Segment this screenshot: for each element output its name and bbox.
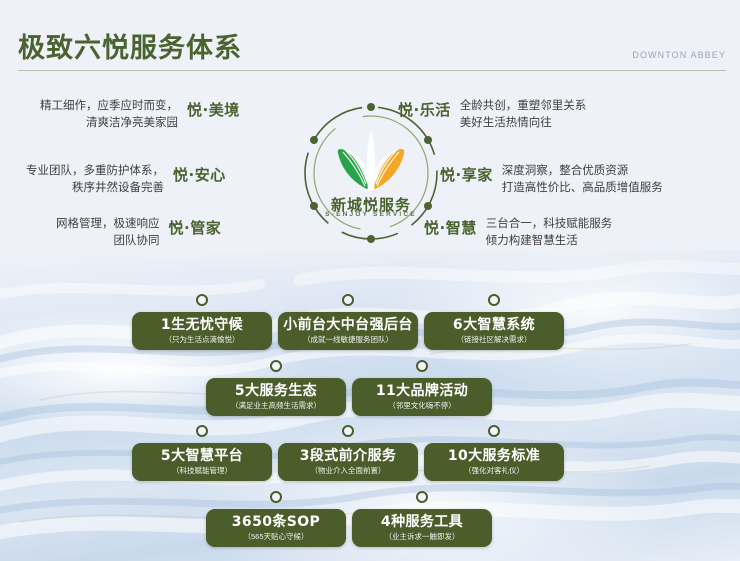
pillar-guanjia-keyword: 悦·管家 <box>169 217 222 238</box>
node-subtitle: （强化对客礼仪） <box>464 465 524 476</box>
node-connector-dot <box>416 491 428 503</box>
node-title: 5大智慧平台 <box>161 448 243 464</box>
node-box-8[interactable]: 10大服务标准 （强化对客礼仪） <box>424 443 564 481</box>
node-box-7[interactable]: 3段式前介服务 （物业介入全面前置） <box>278 443 418 481</box>
node-connector-dot <box>342 425 354 437</box>
node-box-5[interactable]: 11大品牌活动 （邻里文化嗨不停） <box>352 378 492 416</box>
brand-label: DOWNTON ABBEY <box>632 50 726 60</box>
pillar-guanjia-desc-2: 团队协同 <box>56 233 160 250</box>
pillar-meijing-keyword: 悦·美境 <box>187 99 240 120</box>
pillar-lehuo-desc-1: 全龄共创，重塑邻里关系 <box>460 98 587 115</box>
node-box-3[interactable]: 6大智慧系统 （链接社区解决需求） <box>424 312 564 350</box>
node-title: 10大服务标准 <box>448 448 540 464</box>
pillar-meijing-desc-1: 精工细作，应季应时而变， <box>40 98 178 115</box>
pillar-anxin-keyword: 悦·安心 <box>173 164 226 185</box>
pillar-meijing-desc-2: 清爽洁净亮美家园 <box>40 115 178 132</box>
node-connector-dot <box>488 425 500 437</box>
pillar-anxin-desc-2: 秩序井然设备完善 <box>26 180 164 197</box>
pillar-anxin-desc-1: 专业团队，多重防护体系， <box>26 163 164 180</box>
node-title: 6大智慧系统 <box>453 317 535 333</box>
node-connector-dot <box>342 294 354 306</box>
node-box-2[interactable]: 小前台大中台强后台 （成就一线敏捷服务团队） <box>278 312 418 350</box>
node-connector-dot <box>488 294 500 306</box>
node-subtitle: （链接社区解决需求） <box>457 334 532 345</box>
node-subtitle: （只为生活点滴愉悦） <box>165 334 240 345</box>
node-title: 小前台大中台强后台 <box>283 317 413 333</box>
page-title: 极致六悦服务体系 <box>18 26 242 65</box>
pillar-zhihui-desc-1: 三台合一，科技赋能服务 <box>486 216 613 233</box>
pillar-guanjia-desc-1: 网格管理，极速响应 <box>56 216 160 233</box>
pillar-zhihui-desc-2: 倾力构建智慧生活 <box>486 233 613 250</box>
node-subtitle: （成就一线敏捷服务团队） <box>303 334 393 345</box>
pillar-lehuo-desc-2: 美好生活热情向往 <box>460 115 587 132</box>
node-title: 11大品牌活动 <box>376 383 468 399</box>
node-title: 1生无忧守候 <box>161 317 243 333</box>
node-box-10[interactable]: 4种服务工具 （业主诉求一触即发） <box>352 509 492 547</box>
pillar-zhihui: 悦·智慧 三台合一，科技赋能服务 倾力构建智慧生活 <box>424 216 612 250</box>
node-box-9[interactable]: 3650条SOP （565天贴心守候） <box>206 509 346 547</box>
center-emblem: 新城悦服务 S-ENJOY SERVICE <box>296 98 446 248</box>
wing-leaf-logo-icon <box>332 128 410 194</box>
node-connector-dot <box>196 294 208 306</box>
pillar-xiangjia: 悦·享家 深度洞察，整合优质资源 打造高性价比、高品质增值服务 <box>440 163 663 197</box>
pillar-xiangjia-desc-1: 深度洞察，整合优质资源 <box>502 163 663 180</box>
node-title: 5大服务生态 <box>235 383 317 399</box>
node-connector-dot <box>270 491 282 503</box>
node-box-4[interactable]: 5大服务生态 （满足业主高频生活需求） <box>206 378 346 416</box>
node-subtitle: （满足业主高频生活需求） <box>231 400 321 411</box>
page-header: 极致六悦服务体系 DOWNTON ABBEY <box>0 0 740 78</box>
node-title: 4种服务工具 <box>381 514 463 530</box>
node-subtitle: （业主诉求一触即发） <box>385 531 460 542</box>
title-divider <box>18 70 726 71</box>
node-subtitle: （物业介入全面前置） <box>311 465 386 476</box>
node-subtitle: （科技赋能管理） <box>172 465 232 476</box>
node-title: 3段式前介服务 <box>300 448 397 464</box>
node-subtitle: （565天贴心守候） <box>243 531 308 542</box>
pillar-meijing: 精工细作，应季应时而变， 清爽洁净亮美家园 悦·美境 <box>40 98 240 132</box>
node-box-6[interactable]: 5大智慧平台 （科技赋能管理） <box>132 443 272 481</box>
pillar-guanjia: 网格管理，极速响应 团队协同 悦·管家 <box>56 216 221 250</box>
node-connector-dot <box>270 360 282 372</box>
node-title: 3650条SOP <box>232 514 320 530</box>
pillar-xiangjia-desc-2: 打造高性价比、高品质增值服务 <box>502 180 663 197</box>
logo-subtitle: S-ENJOY SERVICE <box>296 211 446 218</box>
node-subtitle: （邻里文化嗨不停） <box>388 400 456 411</box>
node-connector-dot <box>416 360 428 372</box>
node-connector-dot <box>196 425 208 437</box>
pillar-anxin: 专业团队，多重防护体系， 秩序井然设备完善 悦·安心 <box>26 163 226 197</box>
node-box-1[interactable]: 1生无忧守候 （只为生活点滴愉悦） <box>132 312 272 350</box>
pillar-xiangjia-keyword: 悦·享家 <box>440 166 493 184</box>
